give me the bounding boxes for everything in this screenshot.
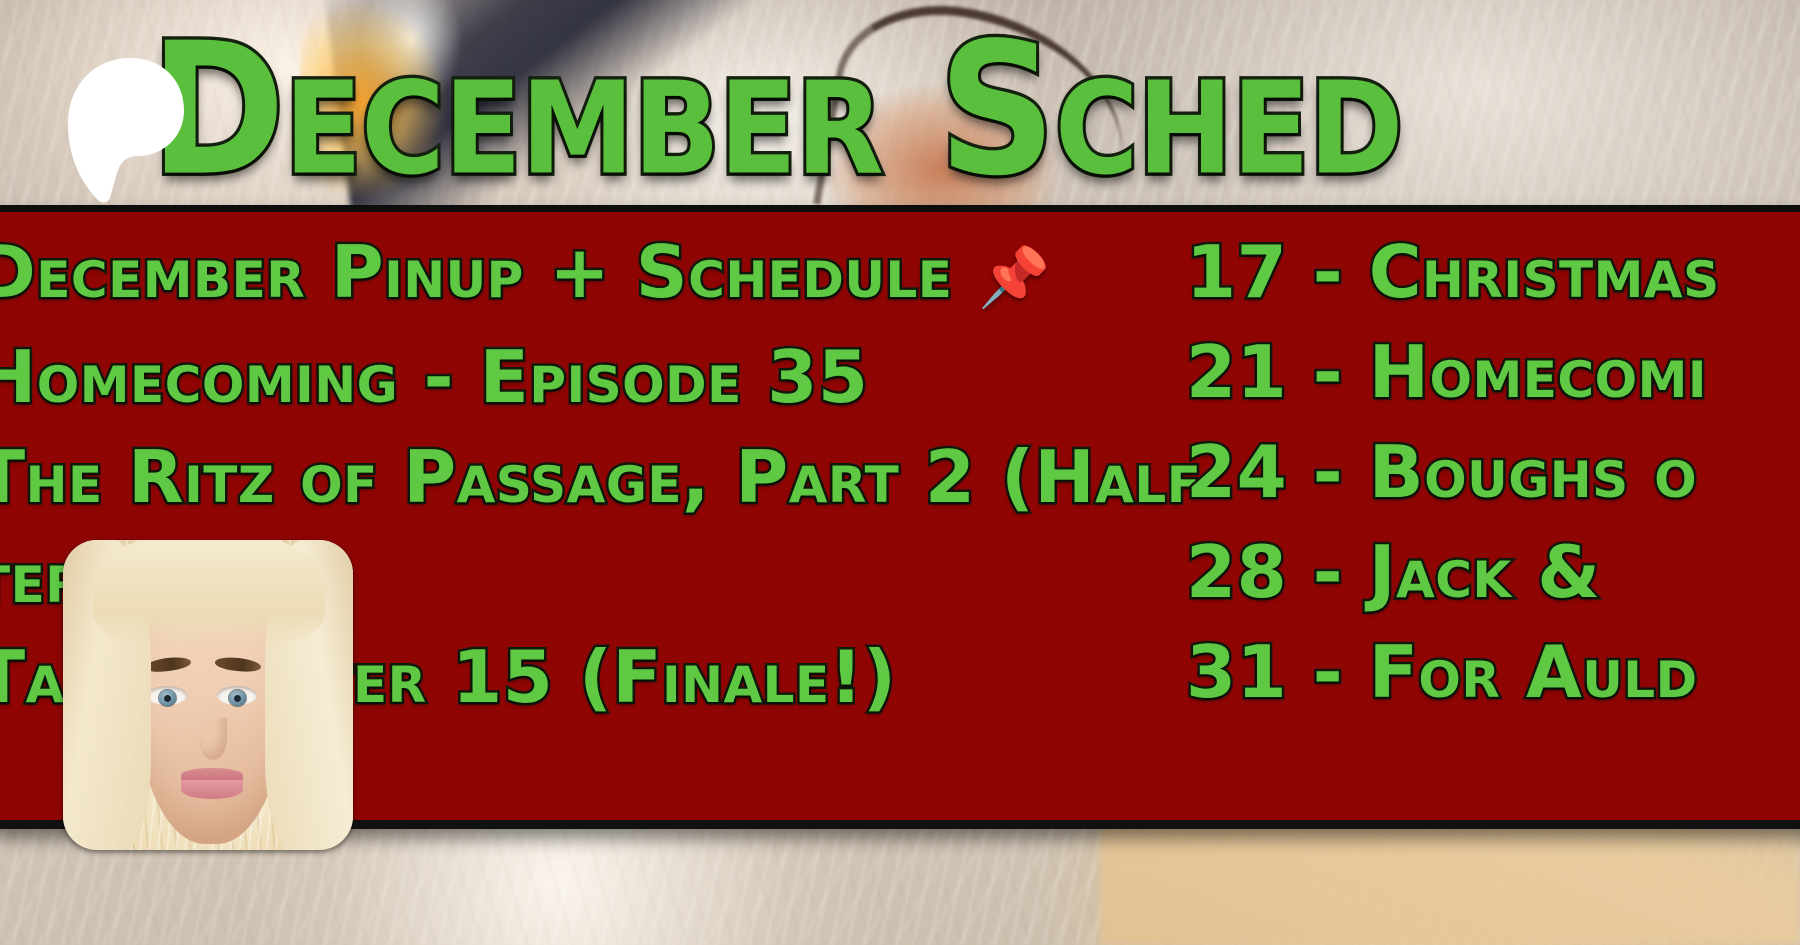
- schedule-date-label: 21 - Homecomi: [1186, 330, 1707, 414]
- schedule-date-label: 28 - Jack &: [1186, 530, 1601, 614]
- schedule-item: Homecoming - Episode 35: [0, 327, 1156, 427]
- schedule-item: December Pinup + Schedule 📌: [0, 222, 1156, 327]
- schedule-item: The Ritz of Passage, Part 2 (Half: [0, 427, 1156, 527]
- patreon-banner-page: December Sched December Pinup + Schedule…: [0, 0, 1800, 945]
- avatar-pupil-right: [234, 695, 241, 702]
- schedule-date-item: 28 - Jack &: [1186, 522, 1800, 622]
- avatar[interactable]: [63, 540, 353, 850]
- schedule-date-item: 24 - Boughs o: [1186, 422, 1800, 522]
- avatar-lower-lip: [181, 780, 243, 799]
- banner-title-container: December Sched: [150, 8, 1800, 213]
- patreon-logo-icon[interactable]: [64, 52, 186, 204]
- schedule-date-label: 17 - Christmas: [1186, 230, 1720, 314]
- schedule-right-column: 17 - Christmas 21 - Homecomi 24 - Boughs…: [1186, 222, 1800, 722]
- schedule-date-item: 17 - Christmas: [1186, 222, 1800, 322]
- avatar-pupil-left: [164, 695, 171, 702]
- schedule-item-label: The Ritz of Passage, Part 2 (Half: [0, 435, 1201, 519]
- schedule-date-label: 31 - For Auld: [1186, 630, 1698, 714]
- schedule-item-label: December Pinup + Schedule: [0, 230, 978, 314]
- schedule-date-label: 24 - Boughs o: [1186, 430, 1697, 514]
- avatar-hair-top: [93, 540, 325, 648]
- schedule-date-item: 21 - Homecomi: [1186, 322, 1800, 422]
- schedule-item-label: Homecoming - Episode 35: [0, 335, 869, 419]
- page-title: December Sched: [150, 19, 1402, 202]
- avatar-nose: [199, 718, 227, 760]
- schedule-date-item: 31 - For Auld: [1186, 622, 1800, 722]
- pushpin-icon: 📌: [978, 243, 1051, 311]
